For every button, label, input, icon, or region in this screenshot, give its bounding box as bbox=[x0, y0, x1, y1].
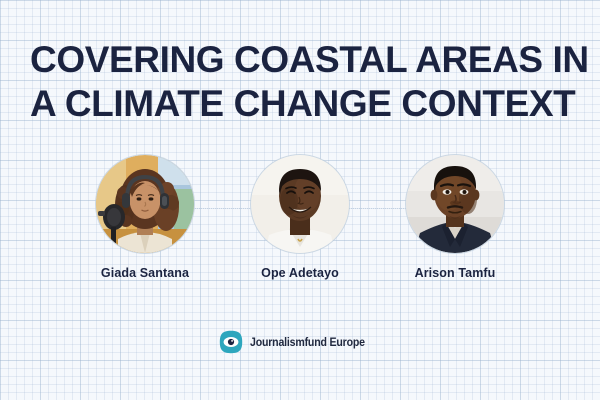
speaker-name-2: Ope Adetayo bbox=[220, 266, 380, 280]
title-line-2: A CLIMATE CHANGE CONTEXT bbox=[30, 82, 590, 126]
avatar-ope-adetayo bbox=[251, 155, 349, 253]
page-title: COVERING COASTAL AREAS IN A CLIMATE CHAN… bbox=[30, 38, 590, 126]
speaker-card-2: Ope Adetayo bbox=[220, 155, 380, 280]
eye-logo-icon bbox=[219, 330, 243, 354]
speakers-row: Giada Santana bbox=[0, 155, 600, 290]
speaker-name-1: Giada Santana bbox=[65, 266, 225, 280]
avatar-arison-tamfu bbox=[406, 155, 504, 253]
brand-logo[interactable]: Journalismfund Europe bbox=[0, 330, 600, 354]
brand-logo-text: Journalismfund Europe bbox=[250, 335, 365, 349]
speaker-name-3: Arison Tamfu bbox=[375, 266, 535, 280]
poster-canvas: COVERING COASTAL AREAS IN A CLIMATE CHAN… bbox=[0, 0, 600, 400]
title-line-1: COVERING COASTAL AREAS IN bbox=[30, 38, 590, 82]
avatar-giada-santana bbox=[96, 155, 194, 253]
speaker-card-3: Arison Tamfu bbox=[375, 155, 535, 280]
speaker-card-1: Giada Santana bbox=[65, 155, 225, 280]
